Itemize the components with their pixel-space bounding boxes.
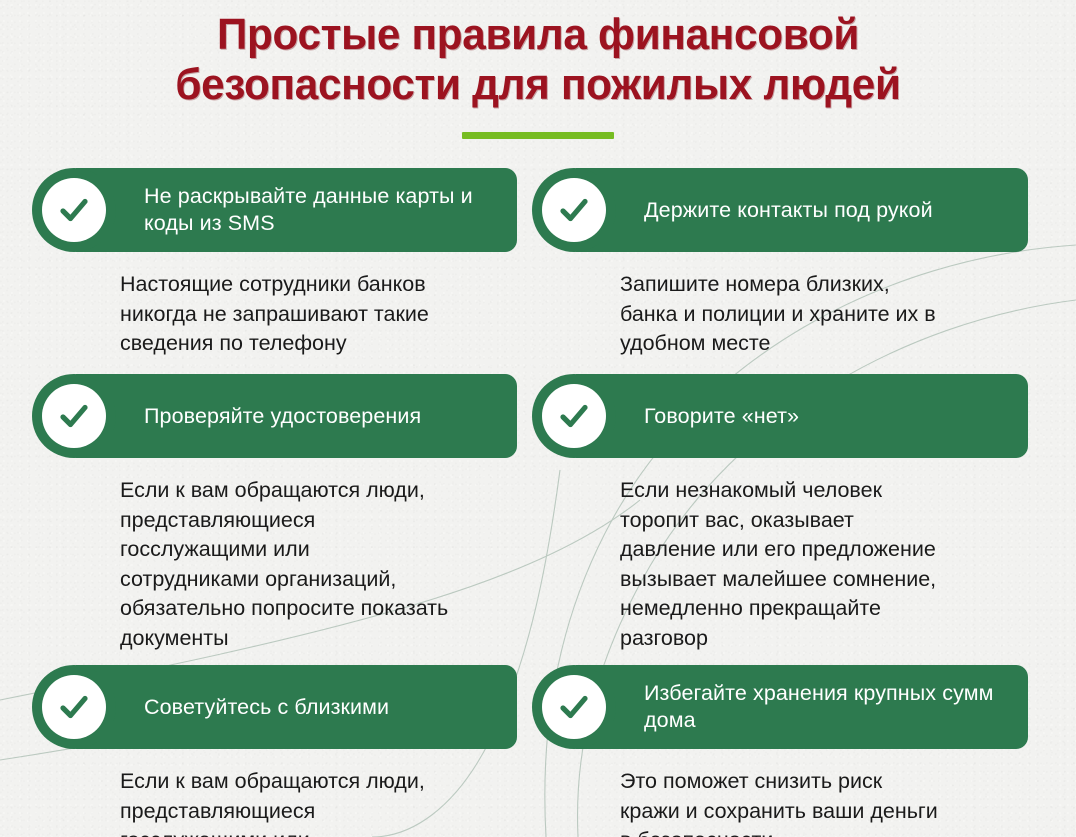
page-title: Простые правила финансовой безопасности …	[22, 10, 1055, 110]
check-circle-inner	[542, 675, 606, 739]
page-header: Простые правила финансовой безопасности …	[0, 0, 1076, 139]
check-circle-inner	[42, 675, 106, 739]
tip-card-card-data: Не раскрывайте данные карты и коды из SM…	[32, 168, 528, 359]
tip-card-body: Если незнакомый человек торопит вас, ока…	[620, 476, 1020, 653]
tip-card-contacts: Держите контакты под рукой Запишите номе…	[532, 168, 1028, 359]
tip-card-header: Не раскрывайте данные карты и коды из SM…	[32, 168, 528, 252]
tip-card-body: Это поможет снизить риск кражи и сохрани…	[620, 767, 1020, 837]
tip-card-header: Избегайте хранения крупных сумм дома	[532, 665, 1028, 749]
tip-card-body: Настоящие сотрудники банков никогда не з…	[120, 270, 528, 359]
tip-card-title: Не раскрывайте данные карты и коды из SM…	[144, 183, 501, 237]
check-circle-inner	[42, 384, 106, 448]
tip-card-avoid-cash: Избегайте хранения крупных сумм дома Это…	[532, 665, 1028, 837]
tip-card-header: Советуйтесь с близкими	[32, 665, 528, 749]
tip-card-verify-id: Проверяйте удостоверения Если к вам обра…	[32, 374, 528, 653]
tip-card-title: Советуйтесь с близкими	[144, 694, 389, 721]
check-circle-inner	[42, 178, 106, 242]
tip-card-header-bar: Избегайте хранения крупных сумм дома	[576, 665, 1028, 749]
title-accent-rule	[462, 132, 614, 139]
tip-card-title: Проверяйте удостоверения	[144, 403, 421, 430]
tip-card-header-bar: Проверяйте удостоверения	[76, 374, 517, 458]
tip-card-say-no: Говорите «нет» Если незнакомый человек т…	[532, 374, 1028, 653]
tip-card-title: Избегайте хранения крупных сумм дома	[644, 680, 1012, 734]
tip-card-body: Если к вам обращаются люди, представляющ…	[120, 476, 528, 653]
tip-card-header-bar: Держите контакты под рукой	[576, 168, 1028, 252]
check-circle-icon	[32, 374, 116, 458]
check-circle-icon	[532, 665, 616, 749]
tip-card-header-bar: Говорите «нет»	[576, 374, 1028, 458]
check-circle-icon	[32, 665, 116, 749]
tip-card-body: Если к вам обращаются люди, представляющ…	[120, 767, 528, 837]
check-circle-icon	[32, 168, 116, 252]
tip-card-header-bar: Советуйтесь с близкими	[76, 665, 517, 749]
tip-card-consult-family: Советуйтесь с близкими Если к вам обраща…	[32, 665, 528, 837]
tip-card-header-bar: Не раскрывайте данные карты и коды из SM…	[76, 168, 517, 252]
check-circle-icon	[532, 168, 616, 252]
tip-card-header: Проверяйте удостоверения	[32, 374, 528, 458]
tip-card-header: Говорите «нет»	[532, 374, 1028, 458]
check-circle-inner	[542, 178, 606, 242]
check-circle-inner	[542, 384, 606, 448]
tip-card-body: Запишите номера близких, банка и полиции…	[620, 270, 1020, 359]
tip-card-header: Держите контакты под рукой	[532, 168, 1028, 252]
tip-card-title: Держите контакты под рукой	[644, 197, 933, 224]
check-circle-icon	[532, 374, 616, 458]
tips-card-grid: Не раскрывайте данные карты и коды из SM…	[0, 168, 1076, 837]
tip-card-title: Говорите «нет»	[644, 403, 799, 430]
